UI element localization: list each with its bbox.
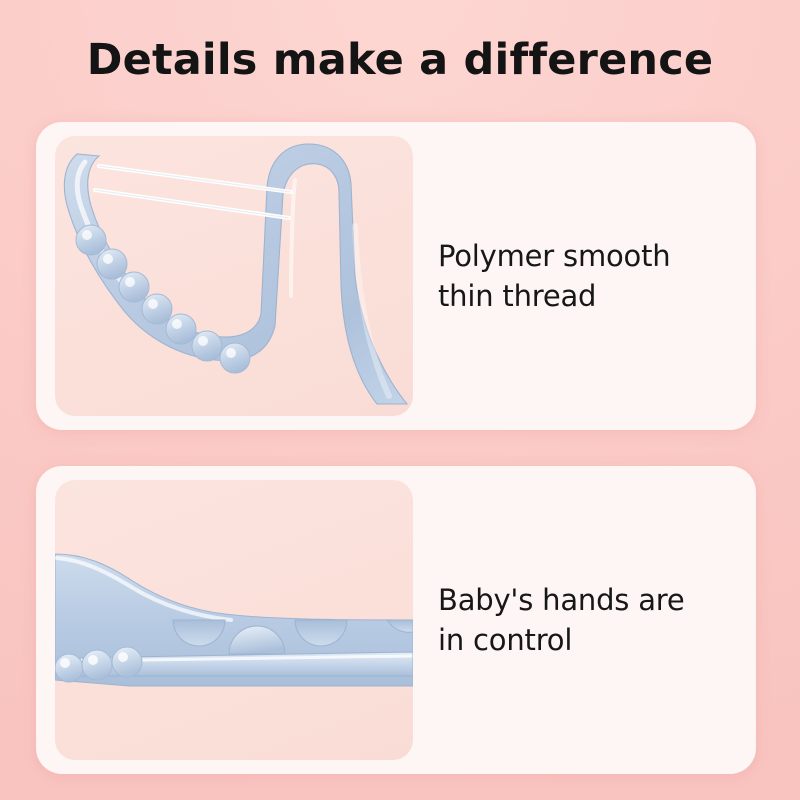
floss-thread-group xyxy=(95,166,291,218)
feature-card-2: Baby's hands are in control xyxy=(36,466,756,774)
floss-pick-handle-closeup-icon xyxy=(55,480,413,760)
product-image-panel-1 xyxy=(55,136,413,416)
caption-line-2: in control xyxy=(438,620,748,660)
product-image-panel-2 xyxy=(55,480,413,760)
feature-card-1: Polymer smooth thin thread xyxy=(36,122,756,430)
caption-line-1: Baby's hands are xyxy=(438,580,748,620)
caption-line-1: Polymer smooth xyxy=(438,236,748,276)
caption-line-2: thin thread xyxy=(438,276,748,316)
feature-caption-1: Polymer smooth thin thread xyxy=(438,122,748,430)
grip-bumps-group xyxy=(76,225,250,373)
page-title: Details make a difference xyxy=(0,33,800,87)
promo-background: Details make a difference xyxy=(0,0,800,800)
floss-pick-fork-with-thread-icon xyxy=(55,136,413,416)
right-post-highlight xyxy=(291,180,295,296)
feature-caption-2: Baby's hands are in control xyxy=(438,466,748,774)
